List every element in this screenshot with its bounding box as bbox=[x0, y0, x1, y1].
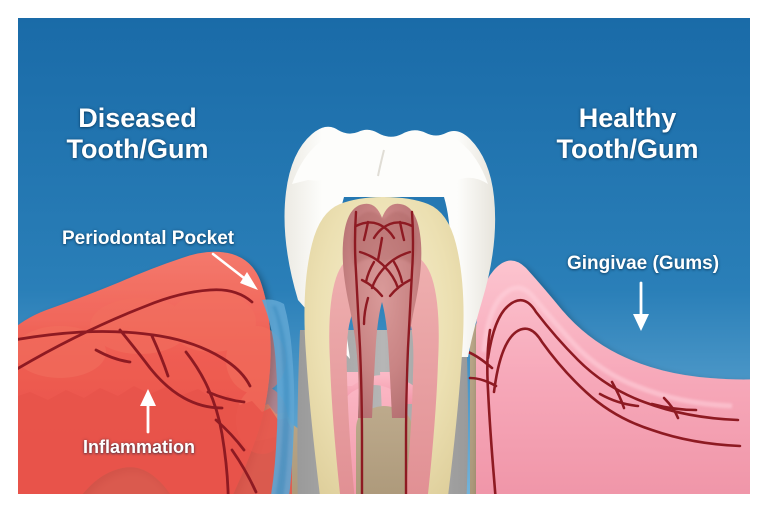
dental-cross-section-illustration bbox=[0, 0, 768, 512]
illustration-figure: Diseased Tooth/Gum Healthy Tooth/Gum Per… bbox=[0, 0, 768, 512]
scene bbox=[12, 18, 768, 512]
tooth bbox=[285, 127, 496, 512]
